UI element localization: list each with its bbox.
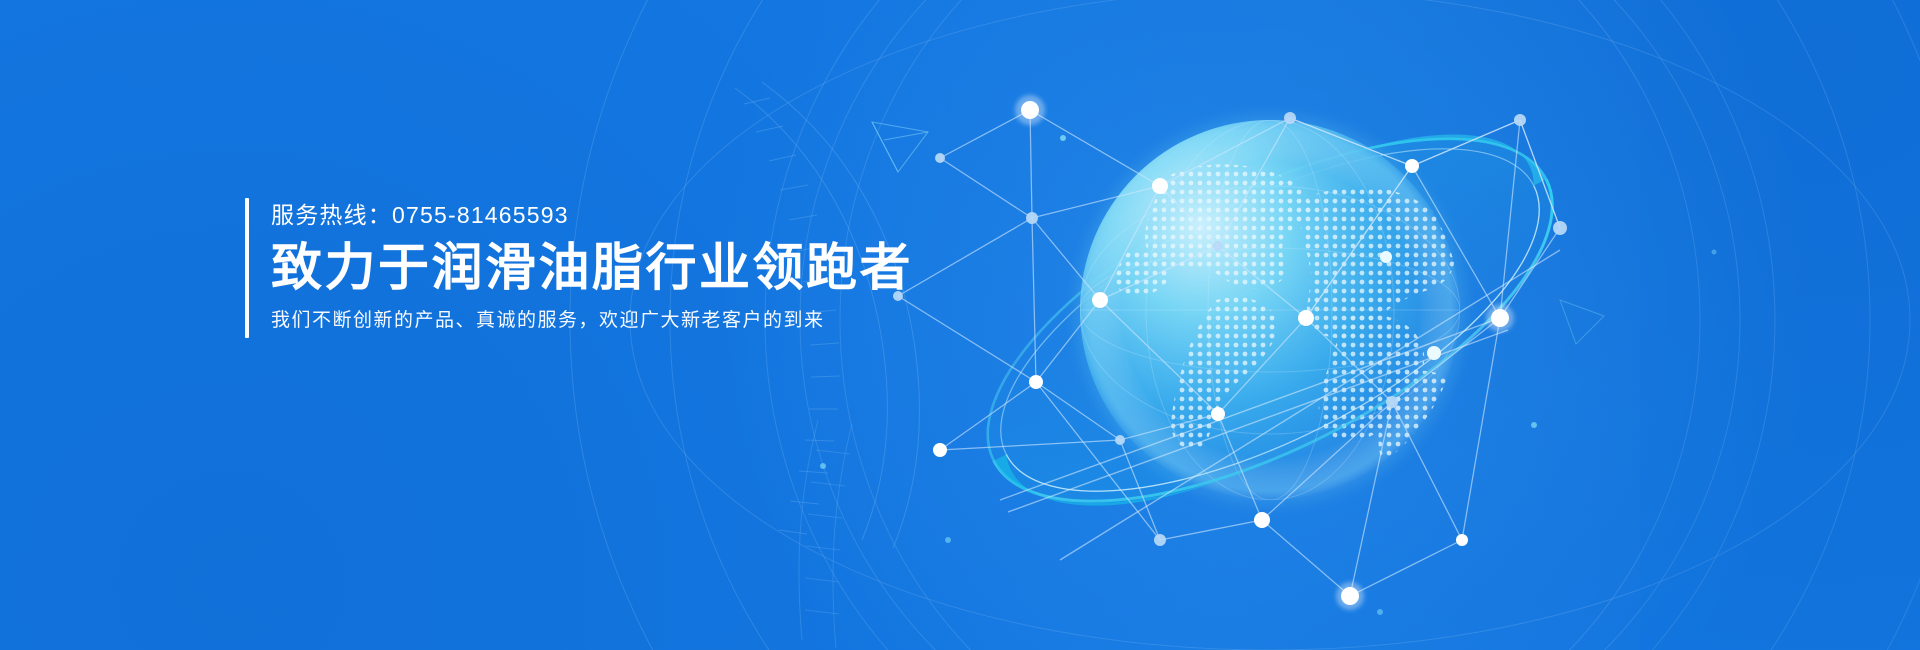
accent-bar bbox=[245, 198, 249, 338]
hero-banner: 服务热线：0755-81465593 致力于润滑油脂行业领跑者 我们不断创新的产… bbox=[0, 0, 1920, 650]
hotline-text: 服务热线：0755-81465593 bbox=[271, 200, 913, 230]
wireframe-triangle bbox=[872, 122, 928, 172]
subtitle-text: 我们不断创新的产品、真诚的服务，欢迎广大新老客户的到来 bbox=[271, 308, 913, 334]
page-title: 致力于润滑油脂行业领跑者 bbox=[271, 238, 913, 298]
banner-copy: 服务热线：0755-81465593 致力于润滑油脂行业领跑者 我们不断创新的产… bbox=[245, 198, 913, 338]
